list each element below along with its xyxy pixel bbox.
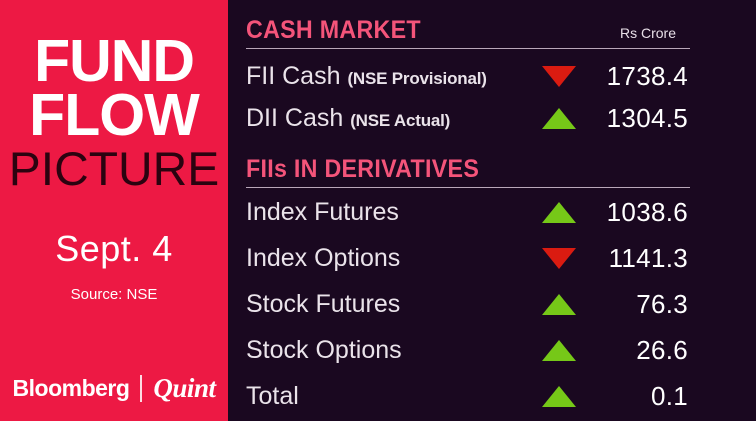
up-triangle-icon [542, 108, 576, 129]
branding-panel: FUND FLOW PICTURE Sept. 4 Source: NSE Bl… [0, 0, 228, 421]
table-row: Index Futures 1038.6 [246, 192, 690, 232]
row-value-index-options: 1141.3 [586, 243, 690, 274]
row-value-fii-cash: 1738.4 [586, 61, 690, 92]
up-triangle-icon [542, 386, 576, 407]
row-label-index-futures: Index Futures [246, 198, 542, 227]
row-label-dii-cash: DII Cash (NSE Actual) [246, 104, 542, 133]
up-triangle-icon [542, 202, 576, 223]
headline-title: FUND FLOW PICTURE [0, 34, 228, 192]
row-marker-index-futures [542, 202, 586, 223]
row-marker-stock-futures [542, 294, 586, 315]
row-label-stock-options: Stock Options [246, 336, 542, 365]
row-marker-index-options [542, 248, 586, 269]
unit-label: Rs Crore [620, 25, 708, 41]
fund-flow-infographic: FUND FLOW PICTURE Sept. 4 Source: NSE Bl… [0, 0, 756, 421]
section-rule-fiis-in-derivatives [246, 187, 690, 188]
section-rule-cash-market [246, 48, 690, 49]
row-value-dii-cash: 1304.5 [586, 103, 690, 134]
down-triangle-icon [542, 248, 576, 269]
up-triangle-icon [542, 294, 576, 315]
row-value-stock-options: 26.6 [586, 335, 690, 366]
row-label-fii-cash: FII Cash (NSE Provisional) [246, 62, 542, 91]
data-panel: CASH MARKET Rs Crore FII Cash (NSE Provi… [228, 0, 756, 421]
table-row: FII Cash (NSE Provisional) 1738.4 [246, 56, 690, 96]
table-row: DII Cash (NSE Actual) 1304.5 [246, 98, 690, 138]
row-value-index-futures: 1038.6 [586, 197, 690, 228]
table-row: Stock Futures 76.3 [246, 284, 690, 324]
row-marker-fii-cash [542, 66, 586, 87]
down-triangle-icon [542, 66, 576, 87]
up-triangle-icon [542, 340, 576, 361]
logo-bloomberg-text: Bloomberg [13, 375, 130, 402]
source-label: Source: NSE [0, 286, 228, 303]
row-label-total: Total [246, 382, 542, 411]
row-label-index-options: Index Options [246, 244, 542, 273]
brand-logo: Bloomberg Quint [0, 373, 228, 404]
row-label-stock-futures: Stock Futures [246, 290, 542, 319]
row-marker-total [542, 386, 586, 407]
section-title-cash-market: CASH MARKET [246, 16, 421, 45]
section-header-cash-market: CASH MARKET Rs Crore [246, 16, 708, 49]
row-marker-dii-cash [542, 108, 586, 129]
logo-divider [140, 375, 142, 402]
section-header-fiis-in-derivatives: FIIs IN DERIVATIVES [246, 155, 708, 188]
row-value-stock-futures: 76.3 [586, 289, 690, 320]
headline-line-flow: FLOW [0, 88, 228, 142]
table-row: Stock Options 26.6 [246, 330, 690, 370]
headline-line-picture: PICTURE [0, 145, 230, 193]
table-row: Index Options 1141.3 [246, 238, 690, 278]
row-value-total: 0.1 [586, 381, 690, 412]
row-marker-stock-options [542, 340, 586, 361]
table-row: Total 0.1 [246, 376, 690, 416]
date-label: Sept. 4 [0, 228, 228, 270]
logo-quint-text: Quint [153, 373, 215, 404]
section-title-fiis-in-derivatives: FIIs IN DERIVATIVES [246, 155, 479, 184]
headline-line-fund: FUND [0, 34, 228, 88]
